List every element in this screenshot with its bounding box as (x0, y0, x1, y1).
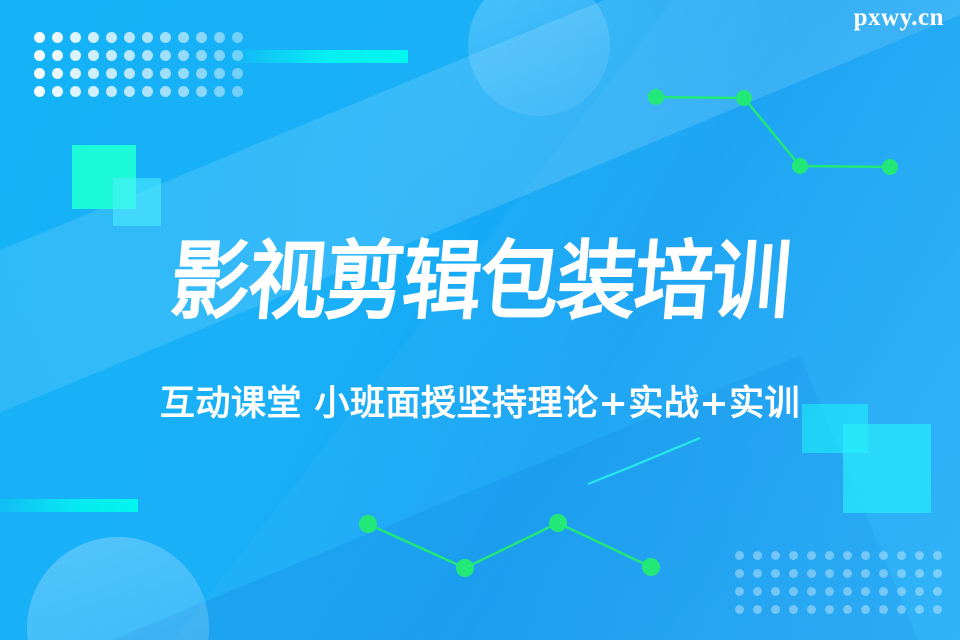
polyline-node (792, 158, 808, 174)
polyline-node (549, 514, 567, 532)
promo-banner: pxwy.cn 影视剪辑包装培训 互动课堂 小班面授坚持理论+实战+实训 (0, 0, 960, 640)
polyline-top-right-icon (648, 89, 898, 175)
polyline-node (456, 559, 474, 577)
polyline-node (736, 90, 752, 106)
polyline-node (648, 89, 664, 105)
polyline-node (642, 558, 660, 576)
page-title: 影视剪辑包装培训 (34, 234, 926, 330)
polyline-path (656, 97, 890, 167)
polyline-path (368, 523, 651, 568)
page-subtitle: 互动课堂 小班面授坚持理论+实战+实训 (0, 382, 960, 426)
polyline-node (882, 159, 898, 175)
thin-diagonal-line-icon (588, 438, 700, 484)
polyline-bottom-center-icon (359, 514, 660, 577)
polyline-node (359, 515, 377, 533)
site-watermark: pxwy.cn (854, 4, 944, 32)
